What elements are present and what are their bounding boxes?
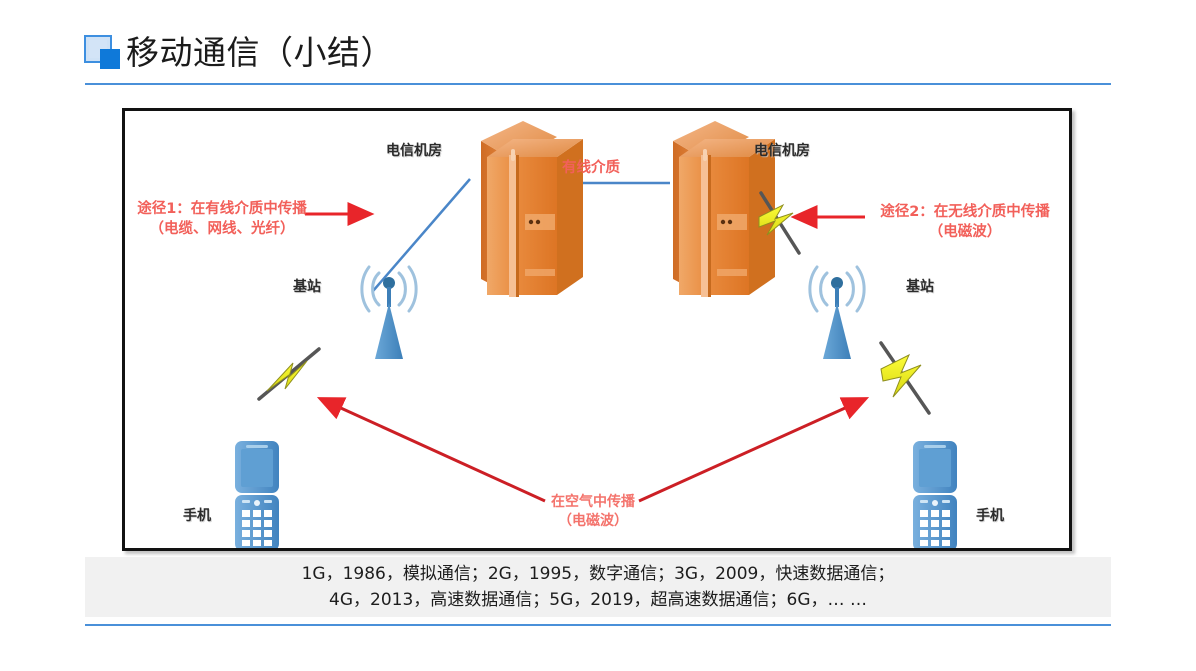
label-wired-medium: 有线介质 — [562, 159, 620, 179]
label-path2-line1: 途径2：在无线介质中传播 — [875, 203, 1055, 223]
label-air-propagation: 在空气中传播 （电磁波） — [523, 493, 663, 531]
generation-summary-caption: 1G，1986，模拟通信；2G，1995，数字通信；3G，2009，快速数据通信… — [85, 557, 1111, 617]
caption-line-1: 1G，1986，模拟通信；2G，1995，数字通信；3G，2009，快速数据通信… — [302, 561, 895, 587]
red-arrow-icon-air-right — [639, 399, 865, 501]
cell-tower-icon-left — [362, 267, 416, 359]
page-title: 移动通信（小结） — [84, 28, 394, 76]
wired-link-left — [373, 179, 470, 291]
label-air-line2: （电磁波） — [523, 512, 663, 531]
label-base-station-left: 基站 — [293, 278, 321, 297]
lightning-bolt-icon-lower-left — [259, 349, 319, 399]
label-path2-line2: （电磁波） — [875, 223, 1055, 243]
double-square-icon — [84, 33, 124, 71]
flip-phone-icon-right — [913, 441, 957, 548]
label-path2: 途径2：在无线介质中传播 （电磁波） — [875, 203, 1055, 242]
flip-phone-icon-left — [235, 441, 279, 548]
cell-tower-icon-right — [810, 267, 864, 359]
label-telecom-room-right: 电信机房 — [754, 142, 810, 161]
label-base-station-right: 基站 — [906, 278, 934, 297]
label-air-line1: 在空气中传播 — [523, 493, 663, 512]
caption-line-2: 4G，2013，高速数据通信；5G，2019，超高速数据通信；6G，… … — [329, 587, 867, 613]
mobile-communication-diagram: 电信机房 电信机房 有线介质 基站 基站 手机 手机 途径1：在有线介质中传播 … — [122, 108, 1072, 551]
label-phone-right: 手机 — [976, 507, 1004, 526]
footer-divider — [85, 624, 1111, 626]
label-path1: 途径1：在有线介质中传播 （电缆、网线、光纤） — [137, 200, 307, 239]
red-arrow-icon-air-left — [321, 399, 545, 501]
slide-root: 移动通信（小结） — [0, 0, 1196, 671]
title-divider — [85, 83, 1111, 85]
server-rack-icon-left — [481, 121, 583, 297]
label-telecom-room-left: 电信机房 — [386, 142, 442, 161]
lightning-bolt-icon-lower-right — [881, 343, 929, 413]
label-path1-line2: （电缆、网线、光纤） — [137, 220, 307, 240]
label-path1-line1: 途径1：在有线介质中传播 — [137, 200, 307, 220]
page-title-text: 移动通信（小结） — [126, 36, 394, 69]
label-phone-left: 手机 — [183, 507, 211, 526]
